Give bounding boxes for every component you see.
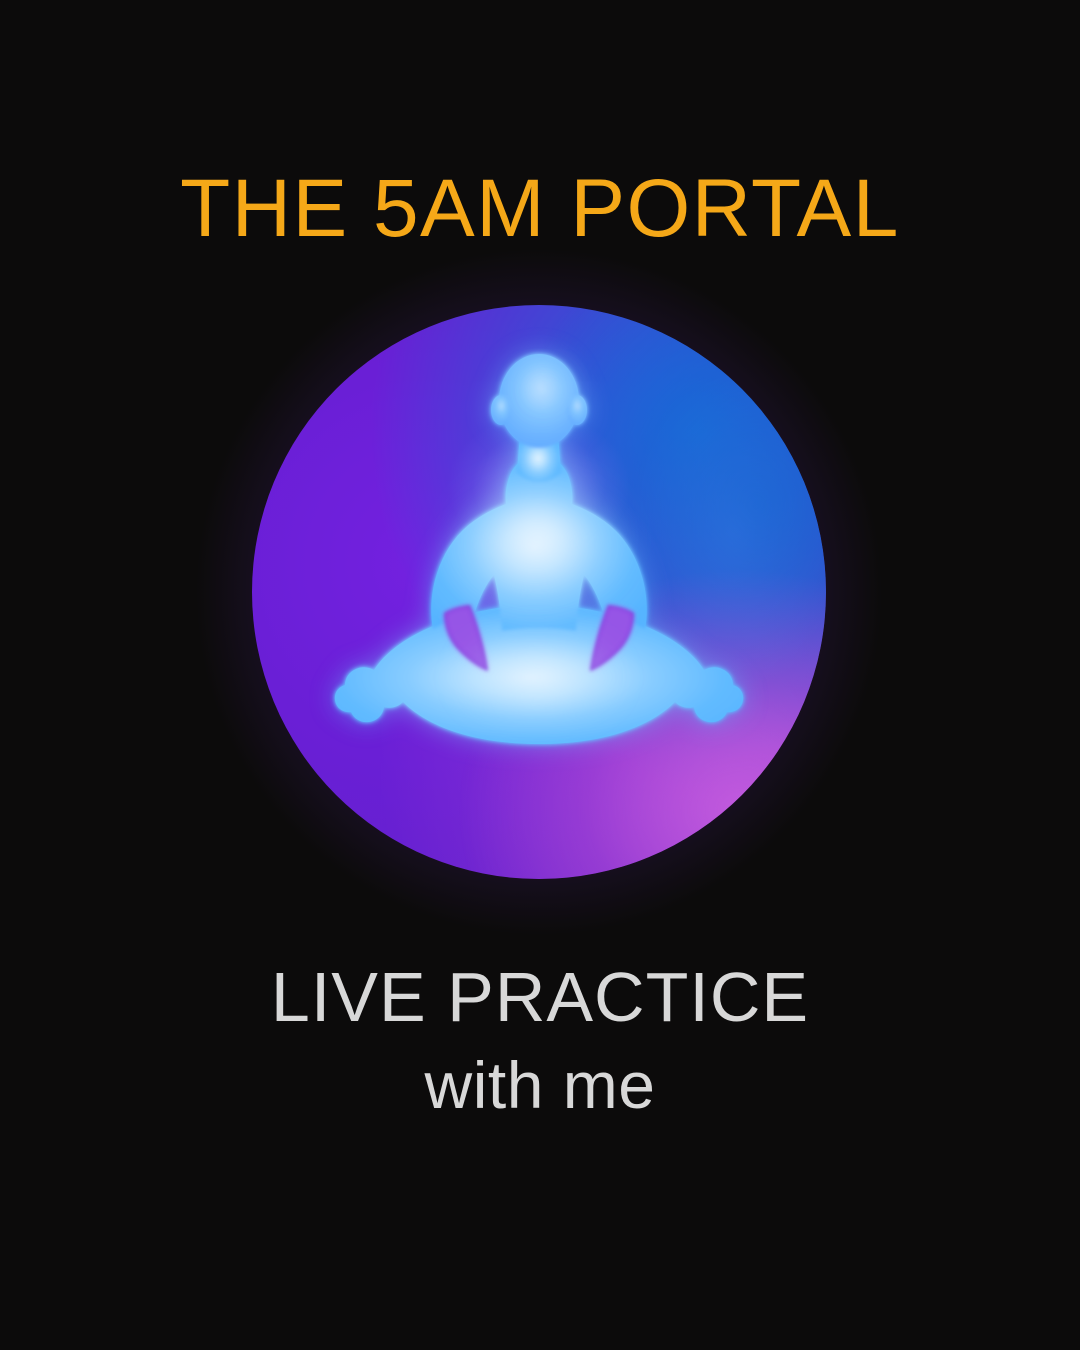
subhead-line-1: LIVE PRACTICE bbox=[0, 962, 1080, 1032]
meditation-orb bbox=[252, 305, 826, 879]
page-title: THE 5AM PORTAL bbox=[0, 168, 1080, 250]
poster-canvas: THE 5AM PORTAL bbox=[0, 0, 1080, 1350]
orb-vignette bbox=[252, 305, 826, 879]
orb-sphere bbox=[252, 305, 826, 879]
subhead-line-2: with me bbox=[0, 1052, 1080, 1118]
